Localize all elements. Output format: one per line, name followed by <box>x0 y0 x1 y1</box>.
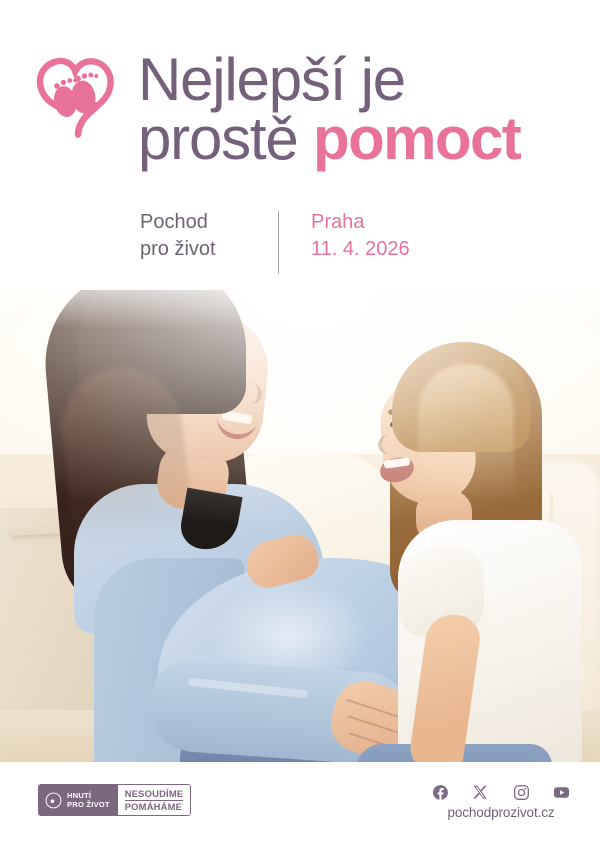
poster-headline: Nejlepší je prostě pomoct <box>138 50 588 169</box>
organization-badge-left: HNUTÍ PRO ŽIVOT <box>39 785 118 815</box>
poster-root: Nejlepší je prostě pomoct Pochod pro živ… <box>0 0 600 848</box>
organization-slogan: NESOUDÍME POMÁHÁME <box>118 785 191 815</box>
headline-line-2-bold: pomoct <box>313 105 520 172</box>
headline-line-1: Nejlepší je <box>138 50 588 109</box>
poster-header: Nejlepší je prostě pomoct Pochod pro živ… <box>0 0 600 290</box>
embryo-circle-icon <box>45 792 62 809</box>
organization-name-line-1: HNUTÍ <box>67 791 110 800</box>
headline-line-2-light: prostě <box>138 105 298 172</box>
organization-name-line-2: PRO ŽIVOT <box>67 800 110 809</box>
hero-photo-illustration <box>0 258 600 762</box>
event-date: 11. 4. 2026 <box>311 236 410 263</box>
event-place-date: Praha 11. 4. 2026 <box>279 209 410 263</box>
hero-photo <box>0 258 600 762</box>
event-city: Praha <box>311 209 410 236</box>
event-subline: Pochod pro život Praha 11. 4. 2026 <box>140 209 410 274</box>
instagram-icon[interactable] <box>513 784 530 801</box>
organization-slogan-line-1: NESOUDÍME <box>125 788 184 800</box>
youtube-icon[interactable] <box>553 784 570 801</box>
organization-badge[interactable]: HNUTÍ PRO ŽIVOT NESOUDÍME POMÁHÁME <box>38 784 191 816</box>
website-url[interactable]: pochodprozivot.cz <box>428 805 574 820</box>
x-icon[interactable] <box>472 784 489 801</box>
heart-with-baby-footprints-logo <box>32 54 124 140</box>
facebook-icon[interactable] <box>432 784 449 801</box>
event-name: Pochod pro život <box>140 209 278 263</box>
organization-slogan-line-2: POMÁHÁME <box>125 801 184 812</box>
social-block: pochodprozivot.cz <box>428 784 574 820</box>
girl-hair-highlight <box>418 364 514 554</box>
social-icon-row <box>428 784 574 801</box>
event-name-line-2: pro život <box>140 236 278 263</box>
organization-name: HNUTÍ PRO ŽIVOT <box>67 791 110 810</box>
event-name-line-1: Pochod <box>140 209 278 236</box>
